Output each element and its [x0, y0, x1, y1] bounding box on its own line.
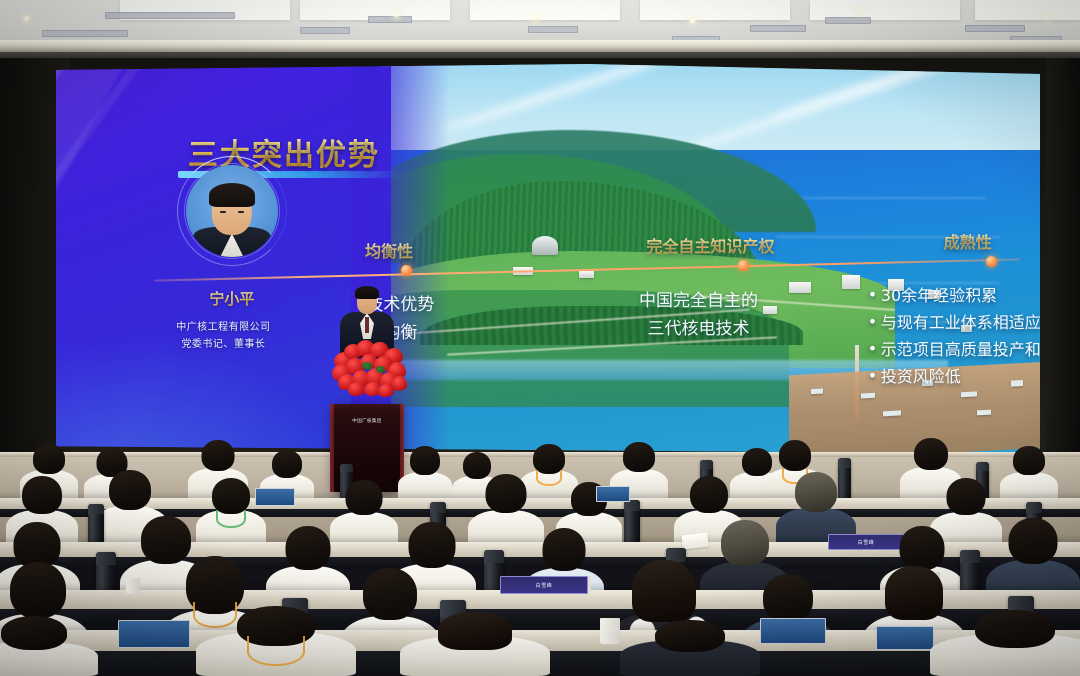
paper-cup: [126, 578, 140, 594]
led-presentation-screen: 三大突出优势 宁小平 中广核工程有限公司 党委书记、董事长 均衡性 完全自主知识…: [56, 64, 1040, 454]
audience-member: [930, 610, 1080, 676]
audience-member: [0, 616, 98, 676]
laptop-screen[interactable]: [876, 626, 934, 650]
audience: 白雪峰: [0, 430, 1080, 676]
podium-logo: 中国广核集团: [340, 418, 394, 427]
name-placard-label: 白雪峰: [501, 582, 587, 589]
audience-member: [398, 446, 452, 502]
laptop-screen[interactable]: [596, 486, 630, 502]
aerial-site-rendering: [381, 64, 1040, 454]
ceiling-light: [533, 15, 538, 20]
column-line: 中国完全自主的: [595, 288, 802, 316]
column-header-ip: 完全自主知识产权: [646, 233, 774, 257]
column-body-ip: 中国完全自主的 三代核电技术: [595, 288, 802, 343]
bullet-item: 投资风险低: [868, 364, 1040, 391]
laptop-screen[interactable]: [255, 488, 295, 506]
podium-logo-line1: 中国广核集团: [340, 418, 394, 427]
ceiling-light: [394, 12, 399, 17]
flower-arrangement: [332, 338, 406, 394]
timeline-dot-2: [738, 260, 749, 271]
conference-hall-scene: 三大突出优势 宁小平 中广核工程有限公司 党委书记、董事长 均衡性 完全自主知识…: [0, 0, 1080, 676]
portrait-photo: [186, 165, 278, 257]
audience-member: [1000, 446, 1058, 504]
speaker-portrait: [186, 165, 278, 257]
wall-right-panel: [1046, 58, 1080, 468]
ceiling-light: [1044, 14, 1049, 19]
ceiling-light: [24, 16, 29, 21]
audience-member: [400, 612, 550, 676]
name-placard: 白雪峰: [500, 576, 588, 594]
audience-member: [196, 606, 356, 676]
ceiling-light: [690, 18, 695, 23]
bullet-item: 示范项目高质量投产和: [868, 337, 1040, 364]
audience-member: [620, 620, 760, 676]
laptop-screen[interactable]: [760, 618, 826, 644]
bullet-item: 与现有工业体系相适应: [868, 310, 1040, 337]
timeline-dot-3: [986, 256, 997, 267]
paper-cup: [600, 618, 620, 644]
column-body-maturity: 30余年经验积累 与现有工业体系相适应 示范项目高质量投产和 投资风险低: [868, 283, 1040, 391]
speaker-name: 宁小平: [186, 288, 278, 309]
speaker-role: 党委书记、董事长: [121, 335, 326, 350]
bullet-item: 30余年经验积累: [868, 283, 1040, 310]
laptop-screen[interactable]: [118, 620, 190, 648]
ceiling-light: [858, 8, 863, 13]
column-line: 三代核电技术: [595, 316, 802, 344]
column-header-balance: 均衡性: [365, 238, 413, 262]
speaker-organization: 中广核工程有限公司: [121, 318, 326, 333]
column-header-maturity: 成熟性: [944, 229, 992, 253]
